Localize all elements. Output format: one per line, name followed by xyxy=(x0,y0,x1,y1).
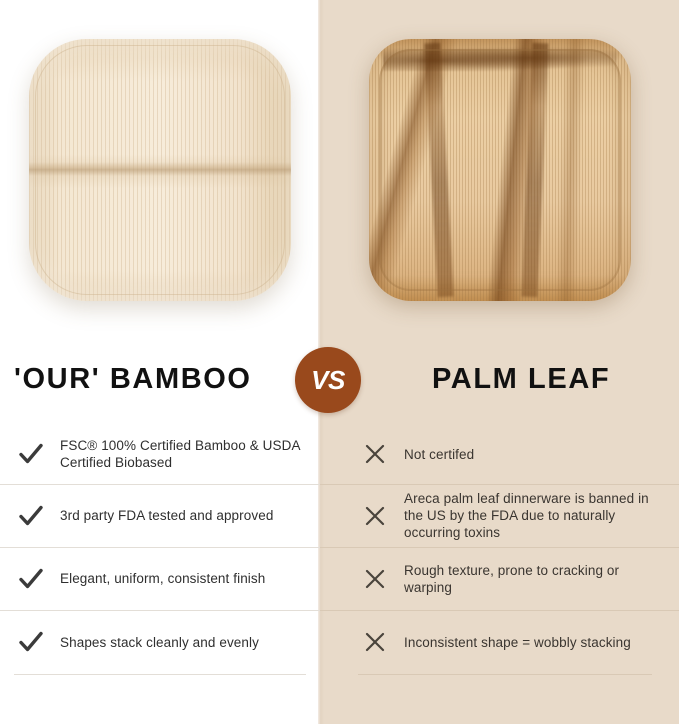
row-divider xyxy=(0,484,320,485)
row-divider xyxy=(320,484,679,485)
bamboo-plate xyxy=(29,39,291,301)
palm-leaf-drawback-list: Not certifed Areca palm leaf dinnerware … xyxy=(320,424,679,676)
row-divider xyxy=(320,547,679,548)
bamboo-plate-rim xyxy=(35,45,285,295)
palm-leaf-plate-image-cell xyxy=(320,0,679,340)
list-item: Elegant, uniform, consistent finish xyxy=(0,547,320,610)
cross-icon xyxy=(358,437,392,471)
list-item: 3rd party FDA tested and approved xyxy=(0,484,320,547)
row-divider xyxy=(0,610,320,611)
bamboo-plate-image-cell xyxy=(0,0,320,340)
checkmark-icon xyxy=(14,562,48,596)
right-column-title: PALM LEAF xyxy=(432,340,610,418)
versus-badge-icon: VS xyxy=(295,347,361,413)
list-item-label: FSC® 100% Certified Bamboo & USDA Certif… xyxy=(60,437,300,471)
list-item-label: Inconsistent shape = wobbly stacking xyxy=(404,634,631,651)
checkmark-icon xyxy=(14,437,48,471)
bamboo-feature-list: FSC® 100% Certified Bamboo & USDA Certif… xyxy=(0,424,320,676)
list-item: FSC® 100% Certified Bamboo & USDA Certif… xyxy=(0,424,320,484)
list-item-label: Shapes stack cleanly and evenly xyxy=(60,634,259,651)
palm-leaf-plate xyxy=(369,39,631,301)
list-item: Areca palm leaf dinnerware is banned in … xyxy=(320,484,679,547)
cross-icon xyxy=(358,499,392,533)
list-item-label: Not certifed xyxy=(404,446,474,463)
list-item-label: Areca palm leaf dinnerware is banned in … xyxy=(404,490,665,541)
list-item: Not certifed xyxy=(320,424,679,484)
list-item-label: 3rd party FDA tested and approved xyxy=(60,507,273,524)
right-list-bottom-divider xyxy=(358,674,652,675)
list-item: Inconsistent shape = wobbly stacking xyxy=(320,610,679,674)
list-item-label: Rough texture, prone to cracking or warp… xyxy=(404,562,665,596)
list-item: Shapes stack cleanly and evenly xyxy=(0,610,320,674)
cross-icon xyxy=(358,625,392,659)
comparison-infographic: 'OUR' BAMBOO PALM LEAF VS FSC® 100% Cert… xyxy=(0,0,679,724)
cross-icon xyxy=(358,562,392,596)
checkmark-icon xyxy=(14,625,48,659)
left-list-bottom-divider xyxy=(14,674,306,675)
row-divider xyxy=(320,610,679,611)
left-column-title: 'OUR' BAMBOO xyxy=(14,340,252,418)
checkmark-icon xyxy=(14,499,48,533)
list-item: Rough texture, prone to cracking or warp… xyxy=(320,547,679,610)
palm-plate-rim xyxy=(379,49,621,291)
list-item-label: Elegant, uniform, consistent finish xyxy=(60,570,265,587)
product-images-row xyxy=(0,0,679,340)
comparison-lists: FSC® 100% Certified Bamboo & USDA Certif… xyxy=(0,424,679,676)
row-divider xyxy=(0,547,320,548)
